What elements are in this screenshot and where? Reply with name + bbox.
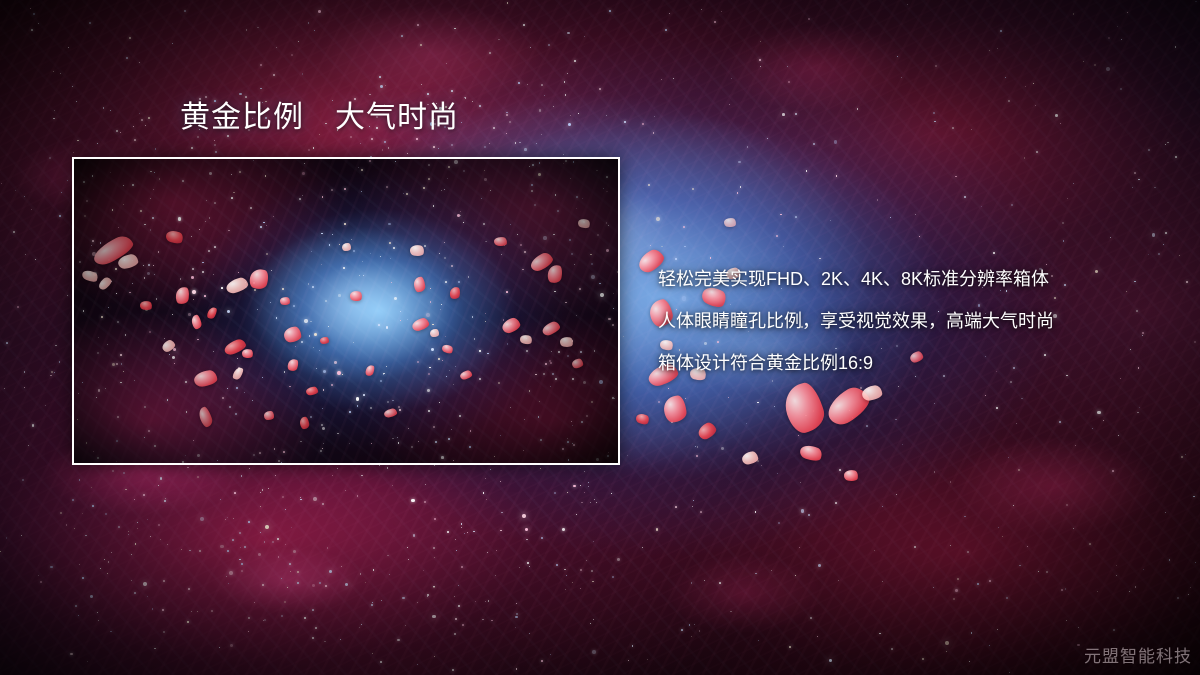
petal <box>843 469 858 482</box>
body-line-2: 人体眼睛瞳孔比例，享受视觉效果，高端大气时尚 <box>658 300 1178 342</box>
page-title: 黄金比例 大气时尚 <box>180 101 459 135</box>
image-frame-inner <box>74 159 618 463</box>
body-text-block: 轻松完美实现FHD、2K、4K、8K标准分辨率箱体 人体眼睛瞳孔比例，享受视觉效… <box>658 258 1178 384</box>
watermark-label: 元盟智能科技 <box>1084 642 1192 667</box>
slide-canvas: 黄金比例 大气时尚 轻松完美实现FHD、2K、4K、8K标准分辨率箱体 人体眼睛… <box>0 0 1200 675</box>
image-frame <box>72 157 620 465</box>
panel-vignette <box>74 159 618 463</box>
body-line-1: 轻松完美实现FHD、2K、4K、8K标准分辨率箱体 <box>658 258 1178 300</box>
body-line-3: 箱体设计符合黄金比例16:9 <box>658 342 1178 384</box>
petal <box>724 217 737 227</box>
